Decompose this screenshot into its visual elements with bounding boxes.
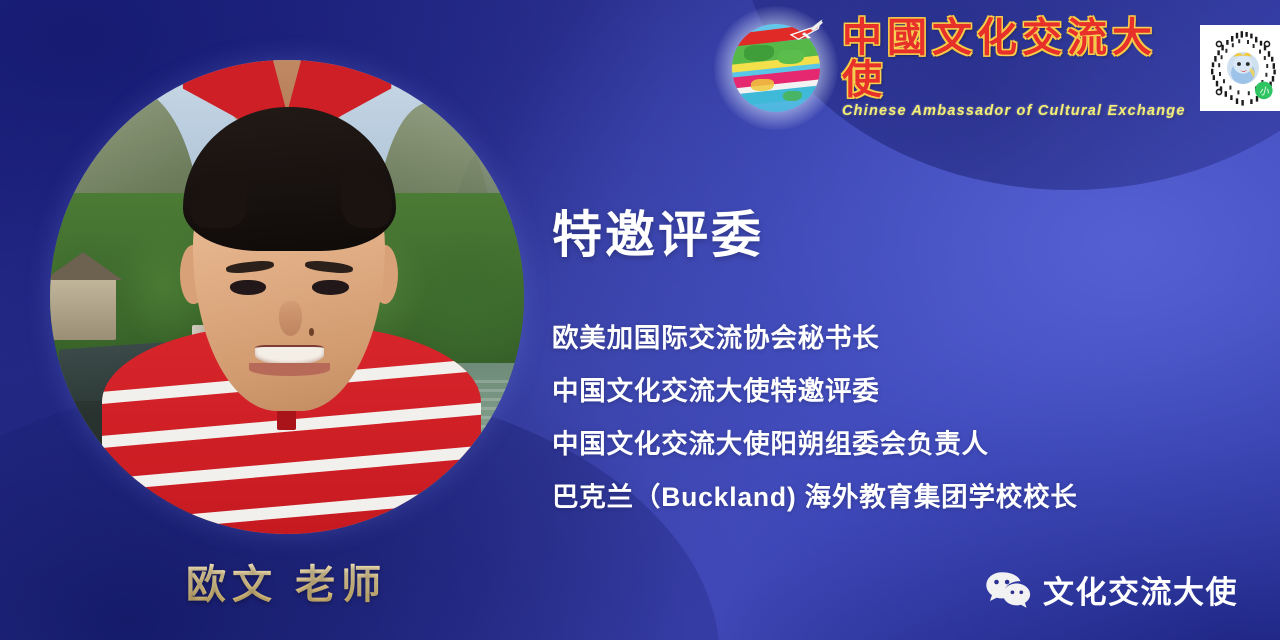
credential-item: 中国文化交流大使阳朔组委会负责人 <box>552 422 1078 461</box>
photo-house <box>50 278 116 340</box>
photo-mole <box>309 328 315 336</box>
credential-item: 巴克兰（Buckland) 海外教育集团学校校长 <box>552 475 1078 514</box>
photo-eyebrow-right <box>304 260 353 275</box>
wechat-miniprogram-qr-code[interactable]: 小 <box>1200 25 1280 111</box>
wechat-logo-icon <box>985 570 1031 610</box>
portrait-image <box>50 60 524 534</box>
svg-text:小: 小 <box>1259 86 1269 97</box>
globe-landmass <box>751 79 774 91</box>
photo-head <box>180 107 398 420</box>
photo-lower-lip <box>249 363 330 377</box>
page-title: 特邀评委 <box>552 195 764 267</box>
brand-title-cn: 中國文化交流大使 <box>842 17 1186 101</box>
shirt-stripe <box>102 484 481 534</box>
poster-canvas: 中國文化交流大使 Chinese Ambassador of Cultural … <box>0 0 1280 640</box>
brand-text-block: 中國文化交流大使 Chinese Ambassador of Cultural … <box>842 17 1186 119</box>
photo-eye-right <box>312 280 348 295</box>
globe-airplane-icon <box>724 16 828 120</box>
person-name: 欧文 老师 <box>186 552 387 610</box>
credentials-list: 欧美加国际交流协会秘书长 中国文化交流大使特邀评委 中国文化交流大使阳朔组委会负… <box>552 316 1078 514</box>
airplane-icon <box>788 18 824 44</box>
qr-code-graphic: 小 <box>1203 28 1280 108</box>
brand-header: 中國文化交流大使 Chinese Ambassador of Cultural … <box>724 16 1280 120</box>
shirt-stripe <box>102 440 481 495</box>
photo-eyebrow-left <box>226 260 275 275</box>
portrait-photo <box>50 60 524 534</box>
credential-item: 欧美加国际交流协会秘书长 <box>552 316 1078 355</box>
credential-item: 中国文化交流大使特邀评委 <box>552 369 1078 408</box>
photo-nose <box>279 301 302 337</box>
photo-hair <box>183 107 397 251</box>
wechat-account-name: 文化交流大使 <box>1043 567 1238 612</box>
wechat-footer: 文化交流大使 <box>985 567 1238 612</box>
brand-title-en: Chinese Ambassador of Cultural Exchange <box>842 103 1186 119</box>
photo-eye-left <box>230 280 266 295</box>
globe-landmass <box>744 45 774 61</box>
